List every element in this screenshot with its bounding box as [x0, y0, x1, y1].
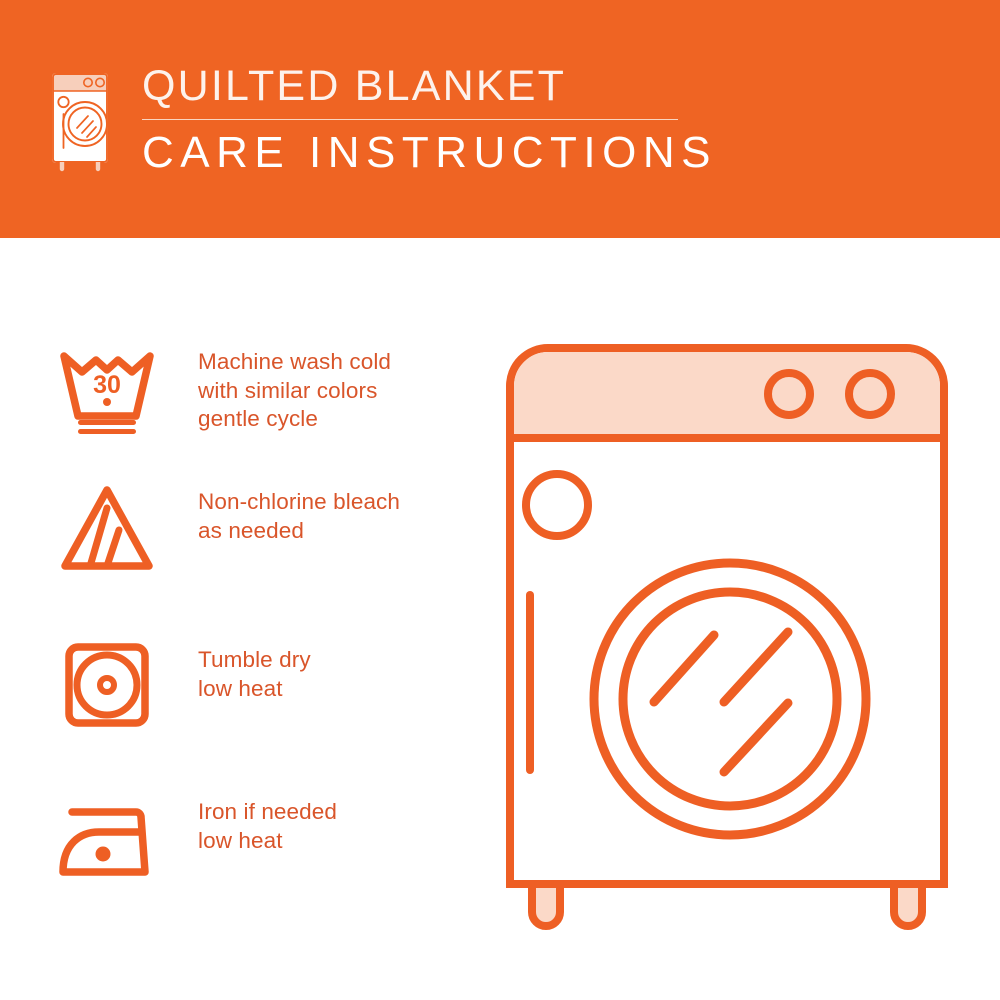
leg-left	[532, 884, 560, 926]
title-divider	[142, 119, 678, 120]
header-content: QUILTED BLANKET CARE INSTRUCTIONS	[44, 62, 717, 178]
care-item-bleach: Non-chlorine bleach as needed	[44, 478, 400, 578]
tumble-dry-low-heat-icon	[44, 636, 170, 736]
non-chlorine-bleach-triangle-icon	[44, 478, 170, 578]
page-subtitle: CARE INSTRUCTIONS	[142, 128, 717, 178]
care-item-label: Iron if needed low heat	[170, 788, 337, 855]
leg-right	[894, 884, 922, 926]
front-load-washing-machine-illustration	[492, 330, 962, 930]
wash-temperature-value: 30	[93, 371, 121, 399]
care-item-iron: Iron if needed low heat	[44, 788, 337, 888]
washing-machine-icon	[44, 66, 116, 176]
care-instructions-list: 30 Machine wash cold with similar colors…	[0, 238, 480, 1000]
header-title-block: QUILTED BLANKET CARE INSTRUCTIONS	[142, 62, 717, 178]
page-header: QUILTED BLANKET CARE INSTRUCTIONS	[0, 0, 1000, 238]
page-title: QUILTED BLANKET	[142, 62, 717, 113]
care-item-label: Non-chlorine bleach as needed	[170, 478, 400, 545]
care-item-machine-wash: 30 Machine wash cold with similar colors…	[44, 338, 391, 438]
care-item-tumble-dry: Tumble dry low heat	[44, 636, 311, 736]
care-item-label: Machine wash cold with similar colors ge…	[170, 338, 391, 434]
wash-tub-30-gentle-icon: 30	[44, 338, 170, 438]
care-item-label: Tumble dry low heat	[170, 636, 311, 703]
iron-low-heat-icon	[44, 788, 170, 888]
